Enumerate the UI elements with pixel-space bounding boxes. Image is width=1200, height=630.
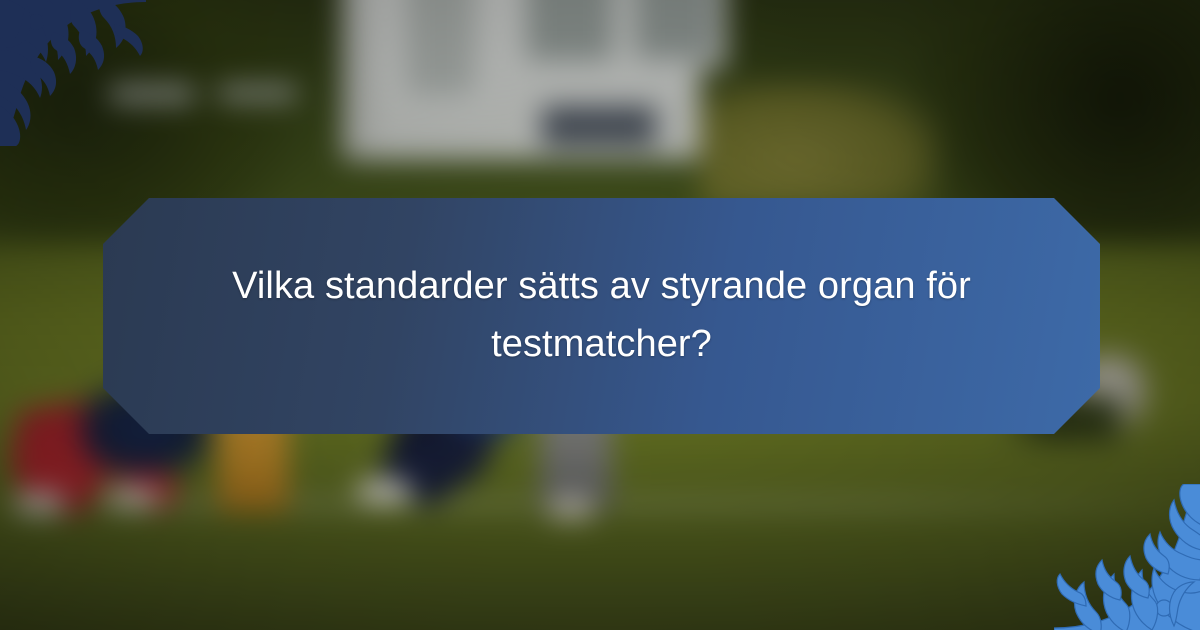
social-share-card: Vilka standarder sätts av styrande organ… bbox=[0, 0, 1200, 630]
page-title: Vilka standarder sätts av styrande organ… bbox=[222, 258, 982, 374]
headline-banner: Vilka standarder sätts av styrande organ… bbox=[103, 198, 1100, 434]
